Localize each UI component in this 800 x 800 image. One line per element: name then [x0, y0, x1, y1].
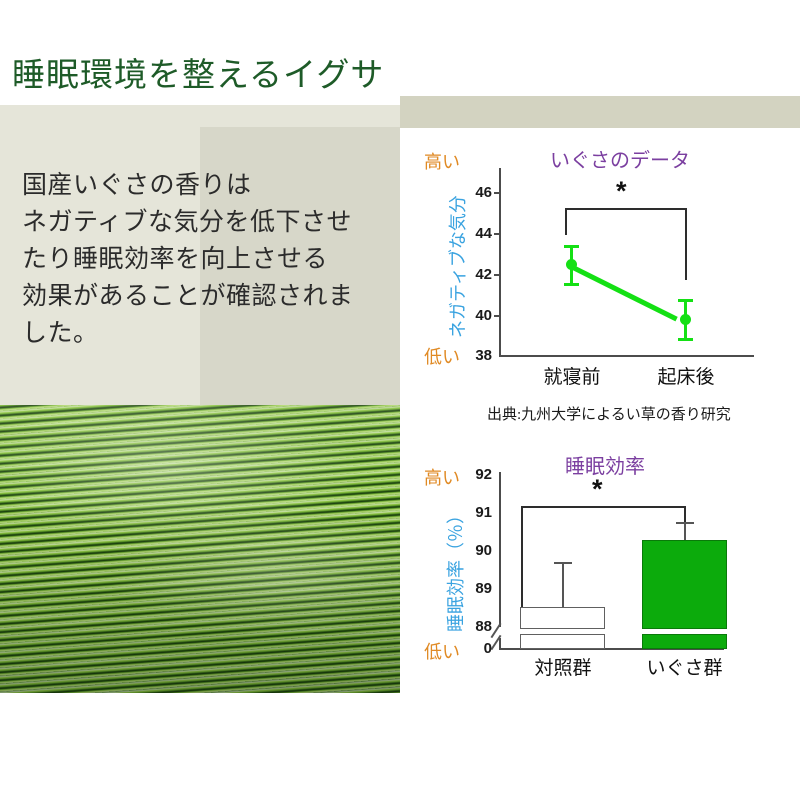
chart-sleep-bar-igusa	[642, 540, 727, 629]
chart-mood-xcat: 起床後	[645, 362, 727, 389]
chart-mood-xcat: 就寝前	[531, 362, 613, 389]
chart-sleep-high-label: 高い	[424, 464, 460, 490]
chart-mood-bracket-left	[565, 208, 567, 235]
chart-mood-tick: 40	[460, 307, 492, 324]
chart-mood-tickmark	[494, 315, 500, 317]
chart-mood-tick: 46	[460, 184, 492, 201]
chart-sleep-title: 睡眠効率	[565, 450, 645, 479]
chart-mood-errorcap-top-1	[564, 245, 579, 248]
chart-mood-bracket-right	[685, 208, 687, 280]
body-line: 効果があることが確認されま	[22, 278, 392, 315]
chart-mood-tickmark	[494, 233, 500, 235]
chart-sleep-bracket-left	[521, 506, 523, 618]
chart-mood-datapoint-1	[566, 259, 577, 270]
chart-mood-low-label: 低い	[424, 343, 460, 369]
chart-sleep-tick: 88	[460, 618, 492, 635]
page-title: 睡眠環境を整えるイグサ	[12, 60, 384, 93]
source-citation: 出典:九州大学によるい草の香り研究	[487, 403, 731, 424]
chart-mood-tick: 42	[460, 266, 492, 283]
chart-mood-tick: 38	[460, 347, 492, 364]
chart-sleep-tick: 0	[460, 640, 492, 657]
body-line: した。	[22, 315, 392, 352]
chart-sleep-y-axis	[499, 472, 501, 627]
body-line: 国産いぐさの香りは	[22, 167, 392, 204]
body-line: たり睡眠効率を向上させる	[22, 241, 392, 278]
chart-sleep-bar-igusa-stub	[642, 634, 727, 649]
chart-sleep-low-label: 低い	[424, 638, 460, 664]
chart-mood-errorcap-top-2	[678, 299, 693, 302]
chart-mood-errorcap-bottom-1	[564, 283, 579, 286]
chart-sleep-tick: 89	[460, 580, 492, 597]
chart-sleep-tick: 90	[460, 542, 492, 559]
chart-sleep-bar-control-stub	[520, 634, 605, 649]
chart-mood-tickmark	[494, 192, 500, 194]
chart-sleep-efficiency: 睡眠効率 高い 低い 睡眠効率（％） 92 91 90 89 88 0 *	[420, 450, 800, 680]
chart-sleep-errorcap-control	[554, 562, 572, 564]
chart-mood-significance-star: *	[616, 178, 627, 205]
chart-mood-y-axis	[499, 168, 501, 356]
background-band-left	[0, 105, 400, 127]
chart-mood-errorcap-bottom-2	[678, 338, 693, 341]
slide-canvas: 睡眠環境を整えるイグサ 国産いぐさの香りは ネガティブな気分を低下させ たり睡眠…	[0, 0, 800, 800]
chart-sleep-significance-star: *	[592, 476, 603, 503]
chart-sleep-xcat: 対照群	[521, 653, 605, 680]
chart-mood-trend-line	[570, 264, 678, 321]
chart-sleep-xcat: いぐさ群	[633, 653, 736, 680]
chart-mood-datapoint-2	[680, 314, 691, 325]
chart-sleep-errorcap-igusa	[676, 522, 694, 524]
body-line: ネガティブな気分を低下させ	[22, 204, 392, 241]
chart-mood-x-axis	[499, 355, 754, 357]
chart-sleep-y-axis-label: 睡眠効率（％）	[442, 506, 468, 632]
chart-mood-title: いぐさのデータ	[550, 144, 690, 173]
chart-sleep-bar-control	[520, 607, 605, 629]
chart-mood-high-label: 高い	[424, 148, 460, 174]
chart-sleep-bracket-top	[521, 506, 686, 508]
chart-sleep-tick: 92	[460, 466, 492, 483]
body-paragraph: 国産いぐさの香りは ネガティブな気分を低下させ たり睡眠効率を向上させる 効果が…	[22, 167, 392, 352]
chart-sleep-tick: 91	[460, 504, 492, 521]
chart-mood-tickmark	[494, 274, 500, 276]
chart-mood: いぐさのデータ 高い 低い ネガティブな気分 46 44 42 40 38 *	[420, 140, 800, 390]
igusa-photo	[0, 405, 400, 693]
chart-mood-bracket-top	[565, 208, 687, 210]
chart-mood-tick: 44	[460, 225, 492, 242]
background-band-right	[400, 96, 800, 128]
rush-grass-strands	[0, 405, 400, 693]
